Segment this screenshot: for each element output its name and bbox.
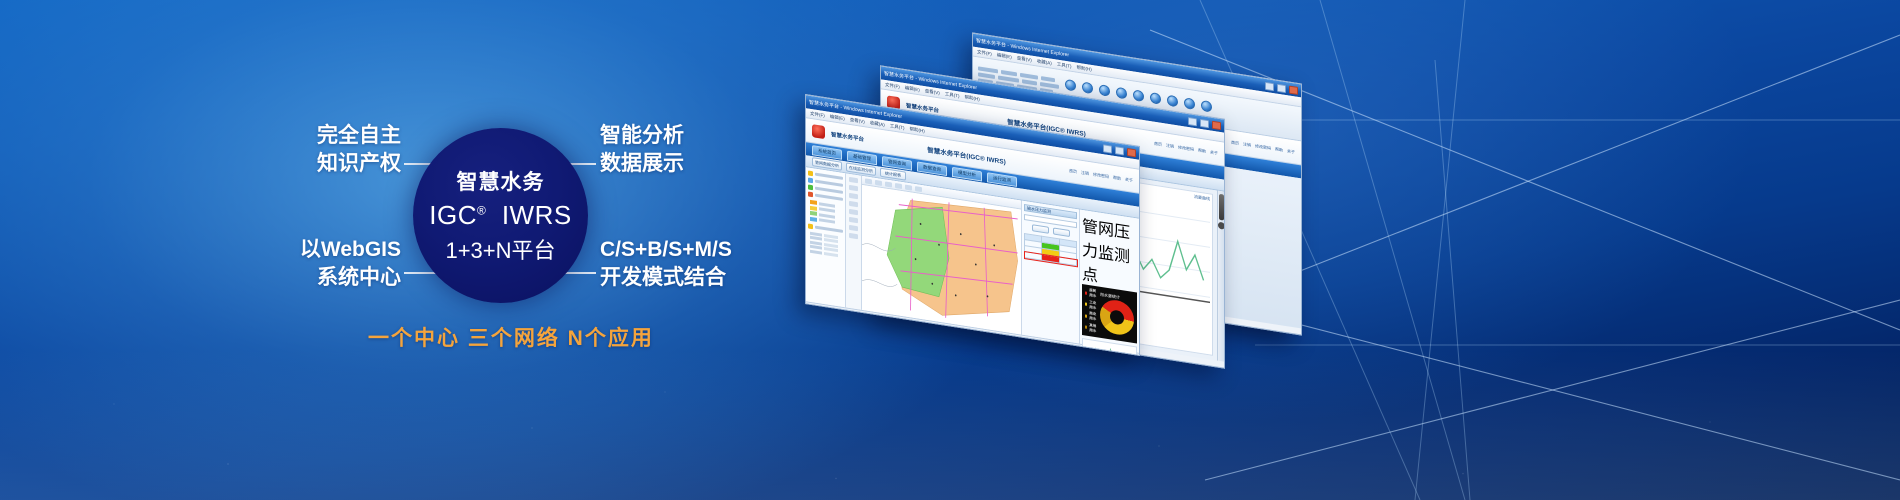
pan-control-icon[interactable] — [1218, 222, 1225, 230]
globe-icon — [1082, 81, 1093, 94]
tool-measure-icon — [849, 209, 858, 215]
header-links[interactable]: 首页 注销 修改密码 帮助 关于 — [1069, 167, 1133, 183]
status-table — [1024, 233, 1077, 266]
header-link-pwd[interactable]: 修改密码 — [1093, 171, 1109, 179]
feature-top-left-line1: 完全自主 — [306, 122, 401, 150]
tool-identify-icon — [849, 217, 858, 223]
header-link-home[interactable]: 首页 — [1154, 140, 1162, 147]
header-links[interactable]: 首页 注销 修改密码 帮助 关于 — [1231, 139, 1295, 155]
pie-legend-4: 其他用水 — [1089, 323, 1097, 334]
feature-top-left: 完全自主 知识产权 — [306, 122, 401, 177]
globe-icon — [1150, 92, 1161, 105]
dialog-title: 管网压力监测点 — [1082, 212, 1137, 293]
minimize-button[interactable] — [1103, 144, 1112, 153]
globe-icon — [1184, 97, 1195, 110]
feature-top-left-line2: 知识产权 — [306, 150, 401, 178]
header-link-about[interactable]: 关于 — [1210, 149, 1218, 156]
gis-map-canvas[interactable] — [862, 176, 1021, 335]
attribute-list — [810, 231, 841, 257]
hub-product-prefix: IGC — [429, 200, 477, 230]
water-usage-dialog[interactable]: 管网压力监测点 居民用水 工业用水 商业用水 其他用水 用水量统计 — [1079, 210, 1139, 353]
menu-item-help[interactable]: 帮助(H) — [1077, 64, 1092, 72]
banner-stage: 智慧水务 IGC® IWRS 1+3+N平台 完全自主 知识产权 智能分析 数据… — [0, 0, 1900, 500]
header-link-pwd[interactable]: 修改密码 — [1178, 144, 1194, 152]
map-tool-icon — [875, 179, 882, 185]
feature-top-right-line2: 数据展示 — [600, 150, 684, 178]
pie-chart-panel[interactable]: 居民用水 工业用水 商业用水 其他用水 用水量统计 — [1082, 284, 1137, 343]
hub-platform: 1+3+N平台 — [445, 233, 555, 265]
menu-item-favorite[interactable]: 收藏(A) — [1037, 58, 1052, 66]
feature-bottom-right-line2: 开发模式结合 — [600, 264, 732, 292]
hub-title: 智慧水务 — [457, 166, 545, 196]
feature-bottom-left-line1: 以WebGIS — [296, 236, 401, 264]
query-button[interactable] — [1032, 224, 1049, 234]
maximize-button[interactable] — [1115, 146, 1124, 155]
monitoring-dialog[interactable]: 输水压力监测 — [1021, 201, 1079, 344]
concept-diagram: 智慧水务 IGC® IWRS 1+3+N平台 完全自主 知识产权 智能分析 数据… — [0, 0, 800, 500]
globe-icon — [1201, 100, 1212, 113]
feature-bottom-left: 以WebGIS 系统中心 — [296, 236, 401, 291]
close-button[interactable] — [1127, 147, 1136, 156]
map-legend — [810, 200, 841, 225]
screenshot-stack: 智慧水务平台 - Windows Internet Explorer 文件(F)… — [780, 0, 1900, 500]
tagline: 一个中心 三个网络 N个应用 — [368, 322, 654, 352]
menu-item-edit[interactable]: 编辑(E) — [830, 113, 845, 121]
menu-item-help[interactable]: 帮助(H) — [910, 126, 925, 134]
scrollbar-thumb[interactable] — [1219, 194, 1224, 221]
header-link-help[interactable]: 帮助 — [1275, 146, 1283, 153]
header-link-help[interactable]: 帮助 — [1198, 147, 1206, 154]
tool-print-icon — [849, 225, 858, 231]
feature-bottom-right: C/S+B/S+M/S 开发模式结合 — [600, 236, 732, 291]
header-link-home[interactable]: 首页 — [1231, 139, 1239, 146]
menu-item-file[interactable]: 文件(F) — [977, 49, 992, 57]
pie-legend: 居民用水 工业用水 商业用水 其他用水 — [1085, 287, 1097, 333]
globe-icon — [1065, 79, 1076, 92]
menu-item-tools[interactable]: 工具(T) — [890, 123, 905, 131]
header-link-home[interactable]: 首页 — [1069, 167, 1077, 174]
maximize-button[interactable] — [1277, 83, 1286, 92]
tool-zoom-out-icon — [849, 201, 858, 207]
close-button[interactable] — [1212, 120, 1221, 129]
header-link-about[interactable]: 关于 — [1125, 176, 1133, 183]
feature-bottom-right-line1: C/S+B/S+M/S — [600, 236, 732, 264]
menu-item-view[interactable]: 查看(V) — [850, 116, 865, 124]
minimize-button[interactable] — [1265, 81, 1274, 90]
map-tool-icon — [915, 186, 922, 192]
donut-chart — [1100, 298, 1134, 337]
map-tool-strip[interactable] — [846, 173, 862, 309]
map-tool-icon — [895, 182, 902, 188]
vertical-scrollbar[interactable] — [1217, 190, 1224, 361]
brand-name: 智慧水务平台 — [831, 130, 864, 143]
menu-item-edit[interactable]: 编辑(E) — [997, 52, 1012, 60]
hub-product: IGC® IWRS — [429, 200, 571, 231]
tool-select-icon — [849, 177, 858, 183]
menu-item-help[interactable]: 帮助(H) — [965, 94, 980, 102]
globe-icon — [1167, 95, 1178, 108]
pie-legend-1: 居民用水 — [1089, 288, 1097, 299]
globe-icon — [1133, 89, 1144, 102]
globe-icon — [1116, 87, 1127, 100]
hub-circle: 智慧水务 IGC® IWRS 1+3+N平台 — [413, 128, 588, 303]
registered-mark-icon: ® — [477, 203, 486, 217]
layer-tree-panel[interactable] — [806, 167, 846, 307]
map-tool-icon — [885, 181, 892, 187]
header-link-about[interactable]: 关于 — [1287, 148, 1295, 155]
pie-legend-3: 商业用水 — [1089, 311, 1097, 322]
menu-item-view[interactable]: 查看(V) — [1017, 55, 1032, 63]
menu-item-tools[interactable]: 工具(T) — [1057, 61, 1072, 69]
hub-product-suffix: IWRS — [502, 200, 572, 230]
map-tool-icon — [905, 184, 912, 190]
reset-button[interactable] — [1053, 227, 1070, 237]
menu-item-file[interactable]: 文件(F) — [810, 110, 825, 118]
header-link-logout[interactable]: 注销 — [1081, 169, 1089, 176]
menu-item-tools[interactable]: 工具(T) — [945, 91, 960, 99]
logo-icon — [812, 124, 825, 139]
header-link-logout[interactable]: 注销 — [1243, 141, 1251, 148]
maximize-button[interactable] — [1200, 118, 1209, 127]
menu-item-favorite[interactable]: 收藏(A) — [870, 120, 885, 128]
pie-legend-2: 工业用水 — [1089, 300, 1097, 311]
feature-bottom-left-line2: 系统中心 — [296, 264, 401, 292]
map-tool-icon — [865, 178, 872, 184]
header-link-logout[interactable]: 注销 — [1166, 142, 1174, 149]
tool-pan-icon — [849, 185, 858, 191]
feature-top-right: 智能分析 数据展示 — [600, 122, 684, 177]
header-link-pwd[interactable]: 修改密码 — [1255, 143, 1271, 151]
header-links[interactable]: 首页 注销 修改密码 帮助 关于 — [1154, 140, 1218, 156]
menu-item-view[interactable]: 查看(V) — [925, 88, 940, 96]
menu-item-file[interactable]: 文件(F) — [885, 82, 900, 90]
minimize-button[interactable] — [1188, 117, 1197, 126]
tool-zoom-in-icon — [849, 193, 858, 199]
menu-item-edit[interactable]: 编辑(E) — [905, 85, 920, 93]
map-graphics — [862, 185, 1021, 335]
globe-icon — [1099, 84, 1110, 97]
close-button[interactable] — [1289, 85, 1298, 94]
header-link-help[interactable]: 帮助 — [1113, 174, 1121, 181]
feature-top-right-line1: 智能分析 — [600, 122, 684, 150]
tool-layers-icon — [849, 233, 858, 239]
